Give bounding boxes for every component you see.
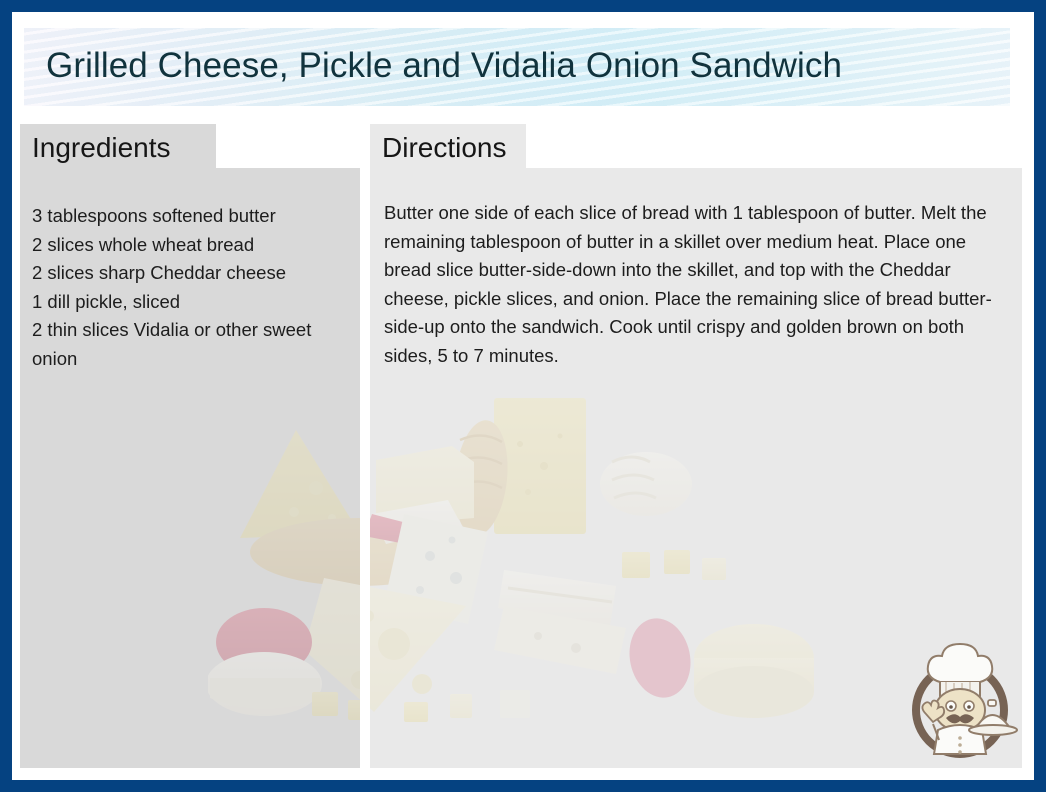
chef-logo-icon [900,638,1020,762]
recipe-card: Grilled Cheese, Pickle and Vidalia Onion… [0,0,1046,792]
list-item: 2 slices sharp Cheddar cheese [32,259,358,288]
ingredients-panel: 3 tablespoons softened butter 2 slices w… [20,168,368,768]
list-item: 1 dill pickle, sliced [32,288,358,317]
title-banner: Grilled Cheese, Pickle and Vidalia Onion… [24,28,1010,106]
directions-tab: Directions [370,124,526,168]
panel-seam-left [12,124,20,780]
directions-text: Butter one side of each slice of bread w… [384,199,1008,370]
panel-seam-bottom [12,768,1034,780]
ingredients-column: Ingredients 3 tablespoons softened butte… [20,124,368,780]
panel-seam-right [1022,124,1034,780]
content-panels: Ingredients 3 tablespoons softened butte… [12,124,1034,780]
list-item: 3 tablespoons softened butter [32,202,358,231]
recipe-card-inner: Grilled Cheese, Pickle and Vidalia Onion… [12,12,1034,780]
panel-seam-center [360,124,370,780]
recipe-title: Grilled Cheese, Pickle and Vidalia Onion… [24,28,1010,88]
list-item: 2 thin slices Vidalia or other sweet oni… [32,316,358,373]
ingredients-tab: Ingredients [20,124,216,168]
ingredients-heading: Ingredients [32,132,171,164]
directions-heading: Directions [382,132,506,164]
list-item: 2 slices whole wheat bread [32,231,358,260]
